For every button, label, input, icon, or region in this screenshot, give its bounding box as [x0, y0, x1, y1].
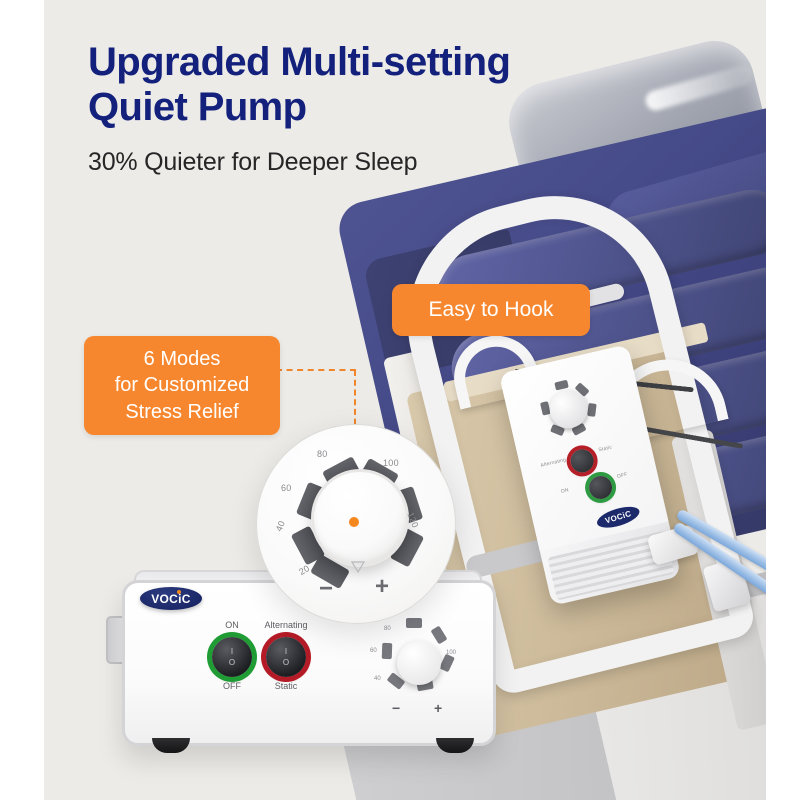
dial-decrease-label: − — [392, 700, 400, 716]
brand-logo-text: VOCiC — [151, 592, 191, 606]
brand-logo-accent-dot — [177, 590, 181, 594]
dial-tick-100: 100 — [446, 650, 456, 656]
left-white-margin — [0, 0, 44, 800]
dial-segment — [382, 643, 393, 659]
dial-segment — [554, 380, 568, 391]
badge-modes-line-3: Stress Relief — [102, 399, 262, 425]
magnifier-increase-label: + — [375, 573, 389, 601]
right-white-margin — [766, 0, 800, 800]
pump-front-pressure-dial[interactable]: 80 60 40 100 − + — [376, 620, 462, 706]
pump-rubber-foot — [152, 738, 190, 753]
badge-modes-line-1: 6 Modes — [102, 346, 262, 372]
headline-line-2: Quiet Pump — [88, 85, 648, 130]
dial-segment — [431, 626, 448, 645]
mode-switch[interactable]: IO — [266, 637, 306, 677]
magnifier-decrease-label: − — [319, 575, 333, 603]
callout-anchor-dot — [349, 517, 359, 527]
dial-segment — [439, 654, 455, 673]
mode-switch-static-label: Static — [251, 681, 321, 691]
dial-increase-label: + — [434, 700, 442, 716]
product-marketing-image: Alternating Static ON OFF VOCiC VOCiC ON… — [0, 0, 800, 800]
page-subtitle: 30% Quieter for Deeper Sleep — [88, 148, 648, 177]
dial-tick-80: 80 — [384, 626, 391, 632]
magnifier-tick-40: 40 — [274, 519, 287, 533]
headline-line-1: Upgraded Multi-setting — [88, 40, 648, 85]
magnifier-tick-60: 60 — [281, 483, 292, 493]
badge-easy-to-hook: Easy to Hook — [392, 284, 590, 336]
badge-modes-line-2: for Customized — [102, 372, 262, 398]
page-title: Upgraded Multi-setting Quiet Pump — [88, 40, 648, 130]
knob-pointer-icon — [351, 561, 365, 573]
magnified-dial-knob — [311, 469, 409, 567]
pump-front-dial-knob[interactable] — [397, 641, 441, 685]
badge-six-modes: 6 Modes for Customized Stress Relief — [84, 336, 280, 435]
power-switch-rocker-glyph: IO — [229, 646, 235, 668]
magnifier-tick-20: 20 — [297, 563, 311, 577]
magnifier-tick-80: 80 — [317, 449, 328, 459]
mode-switch-rocker-glyph: IO — [283, 646, 289, 668]
callout-dashed-line-horizontal — [276, 369, 356, 371]
dial-segment — [587, 403, 597, 417]
dial-tick-60: 60 — [370, 648, 377, 654]
pump-front-brand-badge: VOCiC — [140, 587, 202, 610]
dial-tick-40: 40 — [374, 676, 381, 682]
magnifier-tick-100: 100 — [383, 458, 399, 468]
power-switch[interactable]: IO — [212, 637, 252, 677]
